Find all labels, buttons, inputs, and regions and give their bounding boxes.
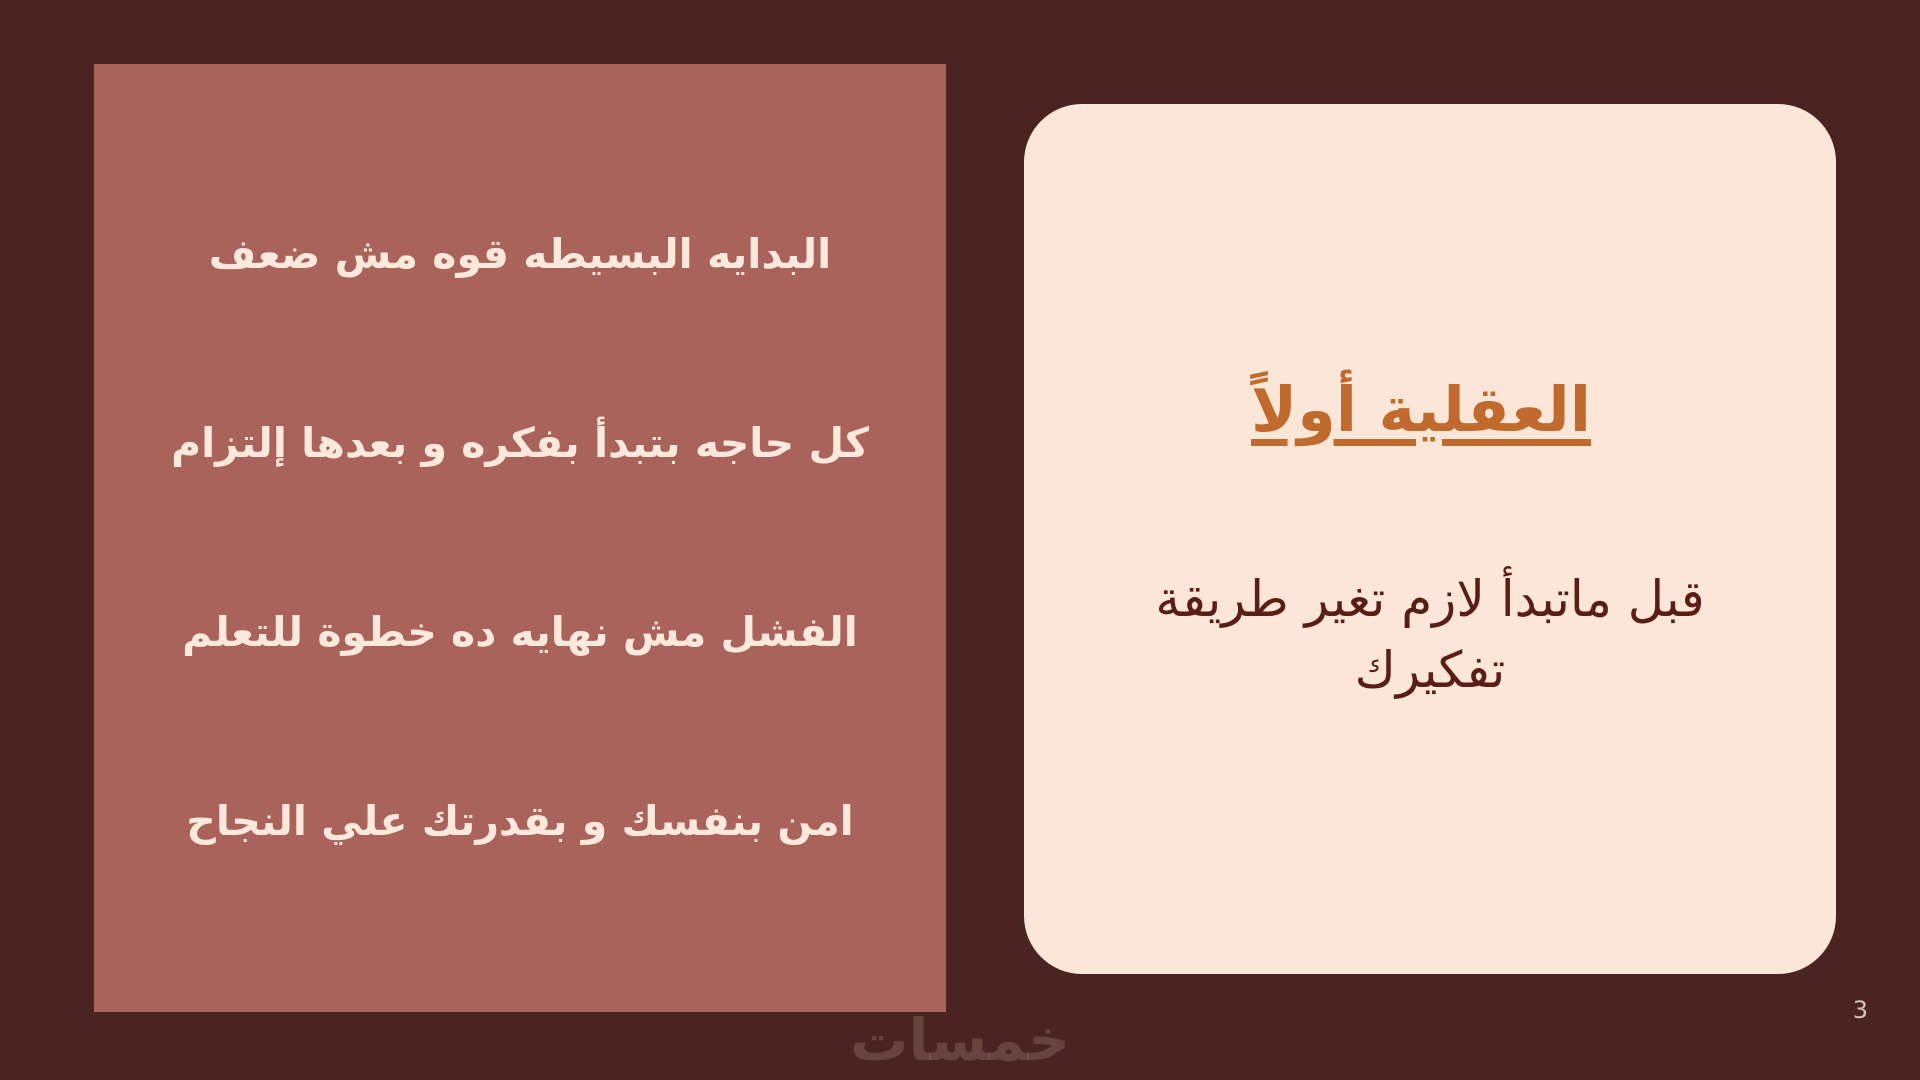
left-panel-line-1: البدايه البسيطه قوه مش ضعف [124,227,916,282]
left-points-panel: البدايه البسيطه قوه مش ضعف كل حاجه بتبدأ… [94,64,946,1012]
left-panel-line-2: كل حاجه بتبدأ بفكره و بعدها إلتزام [124,416,916,471]
left-panel-line-4: امن بنفسك و بقدرتك علي النجاح [124,794,916,849]
watermark: خمسات [0,1006,1920,1074]
right-content-card: العقلية أولاً قبل ماتبدأ لازم تغير طريقة… [1024,104,1836,974]
card-body-text: قبل ماتبدأ لازم تغير طريقة تفكيرك [1085,564,1775,706]
slide-canvas: البدايه البسيطه قوه مش ضعف كل حاجه بتبدأ… [0,0,1920,1080]
page-number: 3 [1853,998,1868,1022]
card-title: العقلية أولاً [1070,373,1790,446]
left-panel-line-3: الفشل مش نهايه ده خطوة للتعلم [124,605,916,660]
